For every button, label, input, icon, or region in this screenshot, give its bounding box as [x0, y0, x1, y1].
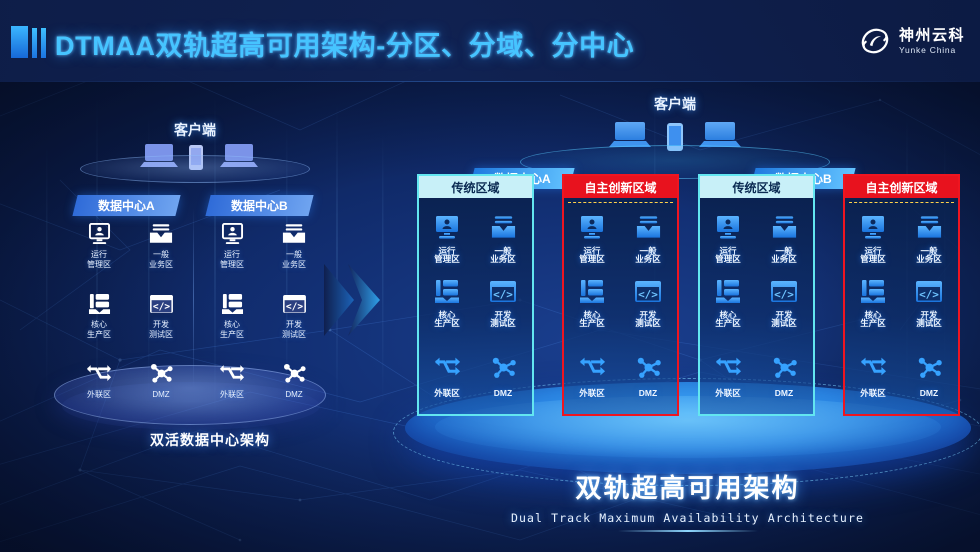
code-window-icon: </>: [475, 276, 531, 306]
svg-text:</>: </>: [493, 288, 513, 301]
left-dc-badge-a: 数据中心A: [72, 195, 180, 216]
inbox-stack-icon: [901, 212, 957, 242]
zone-grid: 运行 管理区 一般 业务区 核心 生产区: [845, 212, 958, 396]
network-nodes-icon: [130, 360, 192, 387]
zone-label-2: 业务区: [901, 254, 957, 264]
zone-cell: 一般 业务区: [130, 220, 192, 276]
page-title: DTMAA双轨超高可用架构-分区、分域、分中心: [55, 24, 634, 63]
branch-arrows-icon: [419, 352, 475, 382]
right-title-en: Dual Track Maximum Availability Architec…: [395, 511, 980, 525]
code-window-icon: </>: [901, 276, 957, 306]
right-client-label: 客户端: [570, 94, 780, 114]
zone-label-1: 外联区: [564, 388, 620, 398]
zone-cell[interactable]: DMZ: [620, 340, 676, 396]
inbox-stack-icon: [475, 212, 531, 242]
zone-label-2: 管理区: [845, 254, 901, 264]
zone-divider-dashed: [849, 202, 954, 203]
title-bar-glyph-3: [41, 28, 46, 58]
zone-cell[interactable]: DMZ: [756, 340, 812, 396]
svg-text:</>: </>: [285, 301, 302, 312]
legacy-architecture-diagram: 客户端 数据中心A 数据中心B 运行 管理区 一般: [60, 120, 360, 470]
zone-label-1: 外联区: [201, 390, 263, 400]
logo-name-cn: 神州云科: [899, 28, 965, 43]
zone-label-2: 管理区: [564, 254, 620, 264]
zone-cell[interactable]: DMZ: [475, 340, 531, 396]
zone-label-1: 运行: [68, 250, 130, 260]
server-core-icon: [201, 290, 263, 317]
monitor-user-icon: [564, 212, 620, 242]
zone-label-1: DMZ: [475, 388, 531, 398]
monitor-user-icon: [419, 212, 475, 242]
zone-label-1: 运行: [201, 250, 263, 260]
branch-arrows-icon: [845, 352, 901, 382]
zone-label-2: 管理区: [419, 254, 475, 264]
zone-label-1: DMZ: [263, 390, 325, 400]
zone-cell[interactable]: 外联区: [700, 340, 756, 396]
zone-cell[interactable]: </> 开发 测试区: [901, 276, 957, 340]
svg-text:</>: </>: [774, 288, 794, 301]
zone-label-2: 业务区: [130, 260, 192, 270]
zone-cell: 外联区: [201, 360, 263, 416]
inbox-stack-icon: [130, 220, 192, 247]
zone-label-2: 管理区: [201, 260, 263, 270]
zone-label-2: 业务区: [263, 260, 325, 270]
zone-cell: </> 开发 测试区: [263, 290, 325, 346]
logo-text: 神州云科 Yunke China: [899, 28, 965, 55]
dual-track-architecture-diagram: 客户端 数据中心A 传统区域 运行: [395, 82, 980, 552]
network-nodes-icon: [475, 352, 531, 382]
code-window-icon: </>: [620, 276, 676, 306]
zone-cell[interactable]: 核心 生产区: [564, 276, 620, 340]
company-logo: 神州云科 Yunke China: [858, 24, 965, 58]
zone-cell[interactable]: </> 开发 测试区: [620, 276, 676, 340]
zone-cell[interactable]: 运行 管理区: [845, 212, 901, 276]
zone-label-1: 核心: [68, 320, 130, 330]
zone-cell: 外联区: [68, 360, 130, 416]
network-nodes-icon: [263, 360, 325, 387]
zone-label-2: 生产区: [201, 330, 263, 340]
zone-cell[interactable]: 核心 生产区: [700, 276, 756, 340]
zone-cell: DMZ: [130, 360, 192, 416]
zone-cell[interactable]: 外联区: [845, 340, 901, 396]
code-window-icon: </>: [756, 276, 812, 306]
zone-label-2: 生产区: [564, 318, 620, 328]
right-title-cn: 双轨超高可用架构: [395, 468, 980, 505]
zone-label-1: 外联区: [845, 388, 901, 398]
zone-cell[interactable]: 一般 业务区: [620, 212, 676, 276]
zone-cell: 运行 管理区: [68, 220, 130, 276]
server-core-icon: [564, 276, 620, 306]
server-core-icon: [419, 276, 475, 306]
zone-cell[interactable]: 一般 业务区: [901, 212, 957, 276]
zone-label-1: DMZ: [901, 388, 957, 398]
zone-cell: </> 开发 测试区: [130, 290, 192, 346]
zone-label-2: 业务区: [475, 254, 531, 264]
monitor-user-icon: [700, 212, 756, 242]
zone-cell[interactable]: DMZ: [901, 340, 957, 396]
zone-cell[interactable]: 运行 管理区: [700, 212, 756, 276]
zone-group-traditional[interactable]: 传统区域 运行 管理区 一般 业务区: [698, 196, 815, 416]
left-client-platform: [80, 155, 310, 183]
branch-arrows-icon: [700, 352, 756, 382]
code-window-icon: </>: [263, 290, 325, 317]
branch-arrows-icon: [68, 360, 130, 387]
left-dc-badge-b: 数据中心B: [205, 195, 313, 216]
zone-cell[interactable]: 运行 管理区: [419, 212, 475, 276]
zone-label-1: 一般: [130, 250, 192, 260]
left-center-divider: [193, 208, 194, 388]
zone-label-2: 管理区: [68, 260, 130, 270]
zone-label-1: 开发: [130, 320, 192, 330]
zone-label-2: 测试区: [263, 330, 325, 340]
zone-label-2: 生产区: [845, 318, 901, 328]
zone-label-2: 测试区: [620, 318, 676, 328]
zone-label-1: 外联区: [700, 388, 756, 398]
zone-cell[interactable]: 一般 业务区: [756, 212, 812, 276]
zone-label-2: 业务区: [756, 254, 812, 264]
left-dc-a-zone-grid: 运行 管理区 一般 业务区 核心 生产区 </> 开发 测试区: [68, 220, 193, 430]
server-core-icon: [68, 290, 130, 317]
zone-label-2: 管理区: [700, 254, 756, 264]
zone-label-1: 开发: [263, 320, 325, 330]
title-underline: [618, 530, 758, 532]
monitor-user-icon: [845, 212, 901, 242]
zone-label-1: 外联区: [68, 390, 130, 400]
zone-label-1: 外联区: [419, 388, 475, 398]
logo-name-en: Yunke China: [899, 46, 965, 55]
zone-label-1: 一般: [263, 250, 325, 260]
zone-label-2: 测试区: [756, 318, 812, 328]
zone-cell[interactable]: </> 开发 测试区: [475, 276, 531, 340]
right-diagram-title: 双轨超高可用架构 Dual Track Maximum Availability…: [395, 468, 980, 532]
zone-label-1: 核心: [201, 320, 263, 330]
zone-group-traditional[interactable]: 传统区域 运行 管理区 一般 业务区: [417, 196, 534, 416]
zone-group-header: 自主创新区域: [843, 174, 960, 198]
zone-cell: 一般 业务区: [263, 220, 325, 276]
zone-cell[interactable]: 核心 生产区: [419, 276, 475, 340]
zone-label-2: 生产区: [68, 330, 130, 340]
svg-text:</>: </>: [638, 288, 658, 301]
zone-cell[interactable]: </> 开发 测试区: [756, 276, 812, 340]
zone-group-innovation[interactable]: 自主创新区域 运行 管理区 一般 业务区: [562, 196, 679, 416]
network-nodes-icon: [901, 352, 957, 382]
title-bar-glyph-1: [11, 26, 28, 58]
zone-label-2: 生产区: [419, 318, 475, 328]
network-nodes-icon: [756, 352, 812, 382]
left-dc-badge-b-label: 数据中心B: [231, 197, 288, 214]
transition-arrow-icon: [322, 258, 388, 342]
inbox-stack-icon: [620, 212, 676, 242]
monitor-user-icon: [68, 220, 130, 247]
zone-cell: 核心 生产区: [68, 290, 130, 346]
zone-cell[interactable]: 运行 管理区: [564, 212, 620, 276]
inbox-stack-icon: [263, 220, 325, 247]
server-core-icon: [700, 276, 756, 306]
zone-grid: 运行 管理区 一般 业务区 核心 生产区: [419, 212, 532, 396]
branch-arrows-icon: [564, 352, 620, 382]
monitor-user-icon: [201, 220, 263, 247]
right-datacenter-b: 数据中心B 传统区域 运行 管理区 一般 业务区: [698, 174, 960, 416]
left-client-label: 客户端: [60, 120, 330, 140]
zone-group-header: 传统区域: [417, 174, 534, 198]
zone-group-header: 传统区域: [698, 174, 815, 198]
title-bar: DTMAA双轨超高可用架构-分区、分域、分中心 神州云科 Yunke China: [0, 0, 980, 82]
svg-text:</>: </>: [152, 301, 169, 312]
swirl-logo-icon: [858, 24, 892, 58]
title-bar-glyph-2: [32, 28, 37, 58]
inbox-stack-icon: [756, 212, 812, 242]
zone-cell[interactable]: 外联区: [564, 340, 620, 396]
zone-label-1: DMZ: [130, 390, 192, 400]
zone-cell[interactable]: 核心 生产区: [845, 276, 901, 340]
zone-label-2: 测试区: [475, 318, 531, 328]
zone-group-header: 自主创新区域: [562, 174, 679, 198]
code-window-icon: </>: [130, 290, 192, 317]
zone-group-innovation[interactable]: 自主创新区域 运行 管理区 一般 业务区: [843, 196, 960, 416]
zone-grid: 运行 管理区 一般 业务区 核心 生产区: [700, 212, 813, 396]
zone-cell: DMZ: [263, 360, 325, 416]
zone-grid: 运行 管理区 一般 业务区 核心 生产区: [564, 212, 677, 396]
server-core-icon: [845, 276, 901, 306]
right-datacenter-a: 数据中心A 传统区域 运行 管理区 一般 业务区: [417, 174, 679, 416]
zone-label-2: 生产区: [700, 318, 756, 328]
svg-text:</>: </>: [919, 288, 939, 301]
title-bars-decoration: [11, 26, 46, 58]
zone-divider-dashed: [568, 202, 673, 203]
branch-arrows-icon: [201, 360, 263, 387]
zone-label-1: DMZ: [756, 388, 812, 398]
zone-cell[interactable]: 一般 业务区: [475, 212, 531, 276]
left-dc-b-zone-grid: 运行 管理区 一般 业务区 核心 生产区 </> 开发 测试区: [201, 220, 326, 430]
zone-label-2: 测试区: [130, 330, 192, 340]
zone-label-1: DMZ: [620, 388, 676, 398]
left-dc-badge-a-label: 数据中心A: [98, 197, 155, 214]
left-diagram-caption: 双活数据中心架构: [60, 430, 360, 450]
zone-label-2: 测试区: [901, 318, 957, 328]
zone-cell[interactable]: 外联区: [419, 340, 475, 396]
network-nodes-icon: [620, 352, 676, 382]
zone-cell: 运行 管理区: [201, 220, 263, 276]
zone-label-2: 业务区: [620, 254, 676, 264]
zone-cell: 核心 生产区: [201, 290, 263, 346]
